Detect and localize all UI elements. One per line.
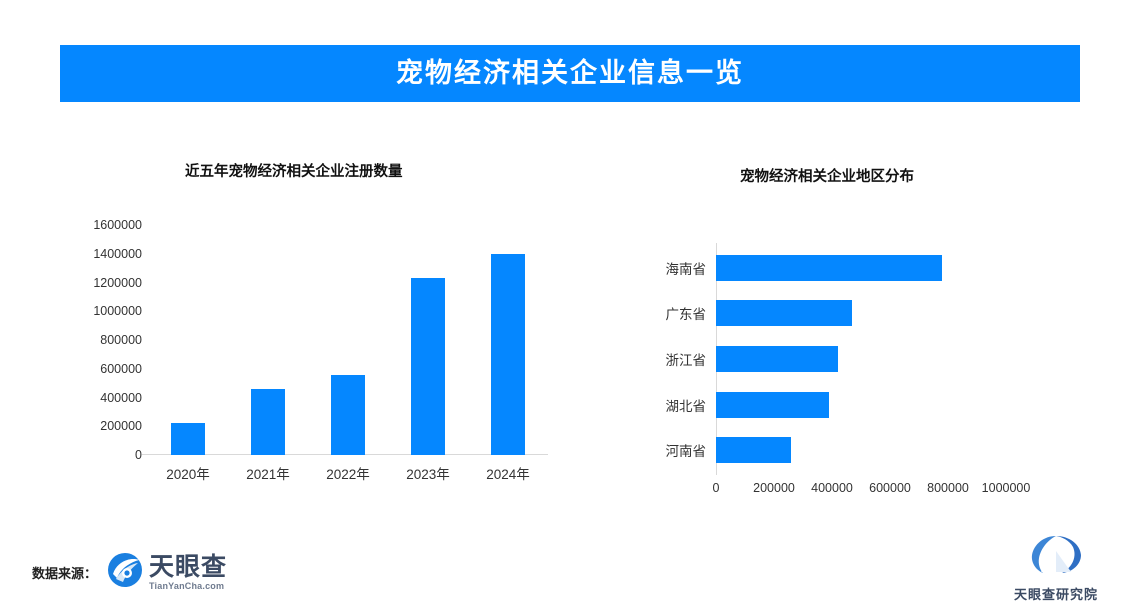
bar-slot	[388, 225, 468, 455]
y-axis-tick: 800000	[100, 333, 142, 347]
institute-mountain-icon	[1029, 534, 1083, 581]
bar-slot: 浙江省	[716, 336, 1016, 382]
institute-logo-block: 天眼查研究院	[1004, 534, 1108, 603]
brand-domain: TianYanCha.com	[149, 582, 227, 591]
y-axis-labels: 0 200000 400000 600000 800000 1000000 12…	[72, 225, 142, 455]
x-axis-tick: 2024年	[468, 463, 548, 483]
bar-guangdong[interactable]	[716, 300, 852, 326]
tianyancha-eye-icon	[107, 552, 143, 593]
x-axis-tick: 2023年	[388, 463, 468, 483]
x-axis-tick: 2022年	[308, 463, 388, 483]
bar-2024[interactable]	[491, 254, 525, 455]
y-axis-tick: 0	[135, 448, 142, 462]
data-source-label: 数据来源：	[32, 563, 97, 582]
x-axis-tick: 200000	[753, 481, 795, 495]
bar-slot: 海南省	[716, 245, 1016, 291]
tianyancha-logo: 天眼查 TianYanCha.com	[107, 552, 227, 593]
bar-2020[interactable]	[171, 423, 205, 455]
category-label-henan: 河南省	[666, 440, 707, 460]
region-distribution-plot-area: 海南省 广东省 浙江省 湖北省 河南省 0 200000 400000 6000…	[716, 245, 1016, 473]
x-axis-tick: 0	[713, 481, 720, 495]
bar-hubei[interactable]	[716, 392, 829, 418]
brand-name: 天眼查	[149, 555, 227, 580]
category-label-hubei: 湖北省	[666, 395, 707, 415]
bar-slot	[148, 225, 228, 455]
page-title: 宠物经济相关企业信息一览	[396, 60, 744, 87]
y-axis-tick: 1600000	[93, 218, 142, 232]
category-label-zhejiang: 浙江省	[666, 349, 707, 369]
bar-2023[interactable]	[411, 278, 445, 455]
bar-slot: 河南省	[716, 427, 1016, 473]
registration-trend-plot-area: 0 200000 400000 600000 800000 1000000 12…	[148, 225, 548, 455]
bar-zhejiang[interactable]	[716, 346, 838, 372]
x-axis-tick: 800000	[927, 481, 969, 495]
chart-title-registration-trend: 近五年宠物经济相关企业注册数量	[185, 160, 403, 181]
bar-slot: 广东省	[716, 291, 1016, 337]
x-axis-tick: 2020年	[148, 463, 228, 483]
bar-slot: 湖北省	[716, 382, 1016, 428]
y-axis-tick: 1400000	[93, 247, 142, 261]
registration-trend-chart: 近五年宠物经济相关企业注册数量 0 200000 400000 600000 8…	[70, 140, 590, 510]
tianyancha-wordmark: 天眼查 TianYanCha.com	[149, 555, 227, 591]
y-axis-tick: 1000000	[93, 304, 142, 318]
institute-name: 天眼查研究院	[1014, 584, 1098, 603]
bar-slot	[468, 225, 548, 455]
bar-hainan[interactable]	[716, 255, 942, 281]
bar-slot	[228, 225, 308, 455]
y-axis-tick: 400000	[100, 391, 142, 405]
chart-title-region-distribution: 宠物经济相关企业地区分布	[740, 165, 914, 186]
x-axis-tick: 1000000	[982, 481, 1031, 495]
bar-slot	[308, 225, 388, 455]
x-axis-tick: 400000	[811, 481, 853, 495]
y-axis-tick: 200000	[100, 419, 142, 433]
bar-henan[interactable]	[716, 437, 791, 463]
category-label-guangdong: 广东省	[666, 303, 707, 323]
bar-2021[interactable]	[251, 389, 285, 455]
y-axis-tick: 1200000	[93, 276, 142, 290]
data-source-footer: 数据来源： 天眼查 TianYanCha.com	[32, 552, 227, 593]
bar-2022[interactable]	[331, 375, 365, 456]
y-axis-tick: 600000	[100, 362, 142, 376]
x-axis-tick: 600000	[869, 481, 911, 495]
x-axis-tick: 2021年	[228, 463, 308, 483]
category-label-hainan: 海南省	[666, 258, 707, 278]
region-distribution-chart: 宠物经济相关企业地区分布 海南省 广东省 浙江省 湖北省 河南省 0 20000…	[610, 140, 1070, 510]
header-banner: 宠物经济相关企业信息一览	[60, 45, 1080, 102]
